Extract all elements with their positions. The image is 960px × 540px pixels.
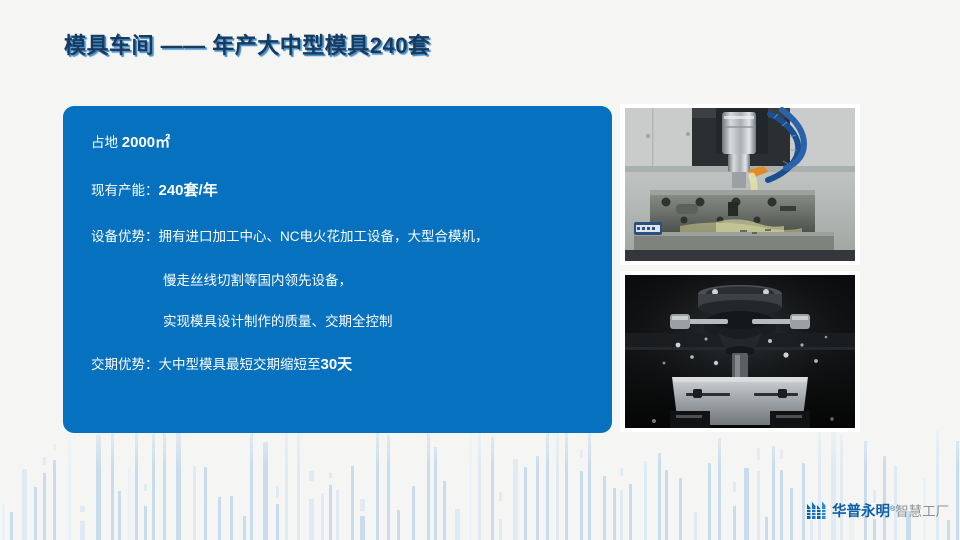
panel-line-equipment-3: 实现模具设计制作的质量、交期全控制 <box>91 313 598 331</box>
background-stripe-segment <box>144 484 147 491</box>
background-stripe <box>144 506 147 540</box>
panel-line-capacity-value: 240套/年 <box>159 182 218 199</box>
background-stripe <box>80 521 85 540</box>
background-stripe-segment <box>43 457 46 465</box>
background-stripe <box>524 467 527 540</box>
background-stripe-segment <box>360 499 365 511</box>
background-stripe <box>152 434 155 540</box>
background-stripe <box>329 485 332 540</box>
background-stripe <box>956 441 959 540</box>
background-stripe <box>360 516 365 540</box>
content-panel: 占地 2000㎡ 现有产能：240套/年 设备优势：拥有进口加工中心、NC电火花… <box>63 106 612 433</box>
panel-line-leadtime: 交期优势：大中型模具最短交期缩短至30天 <box>91 355 598 375</box>
background-stripe <box>620 490 623 540</box>
background-stripe <box>297 432 300 540</box>
background-stripe <box>491 437 494 540</box>
panel-line-area-prefix: 占地 <box>91 135 122 150</box>
background-stripe <box>176 428 181 540</box>
background-stripe <box>665 470 668 540</box>
background-stripe <box>68 425 71 540</box>
background-stripe <box>644 461 647 540</box>
company-logo: 华普永明 ® 智慧工厂 <box>806 498 949 522</box>
panel-line-area: 占地 2000㎡ <box>91 133 598 153</box>
background-stripe <box>263 442 268 540</box>
background-stripe <box>864 441 867 540</box>
background-stripe <box>588 425 591 540</box>
background-stripe <box>629 484 632 540</box>
panel-line-leadtime-value: 30天 <box>321 356 353 373</box>
background-stripe <box>831 426 836 540</box>
panel-line-equipment-1-text: 设备优势：拥有进口加工中心、NC电火花加工设备，大型合模机， <box>91 229 489 244</box>
background-stripe <box>603 476 606 540</box>
background-stripe <box>613 488 616 540</box>
background-stripe <box>434 447 437 540</box>
cnc-machining-center-photo <box>620 104 860 265</box>
background-stripe <box>580 471 583 540</box>
background-stripe <box>118 491 121 540</box>
background-stripe <box>336 490 339 540</box>
background-stripe <box>285 415 288 540</box>
background-stripe <box>499 519 502 540</box>
background-stripe <box>376 421 379 540</box>
panel-line-equipment-3-text: 实现模具设计制作的质量、交期全控制 <box>163 314 393 329</box>
background-stripe <box>43 473 46 540</box>
background-stripe <box>96 435 101 540</box>
background-stripe <box>744 468 749 540</box>
background-stripe <box>218 497 221 540</box>
background-stripe-segment <box>580 450 583 458</box>
background-stripe-segment <box>276 486 279 498</box>
background-stripe-segment <box>499 492 502 501</box>
panel-line-equipment-1: 设备优势：拥有进口加工中心、NC电火花加工设备，大型合模机， <box>91 228 598 246</box>
background-stripe <box>387 435 390 540</box>
panel-line-capacity: 现有产能：240套/年 <box>91 181 598 201</box>
background-stripe <box>679 478 682 540</box>
panel-line-equipment-2-text: 慢走丝线切割等国内领先设备， <box>163 273 352 288</box>
background-stripe <box>128 468 131 540</box>
background-stripe-segment <box>329 473 332 478</box>
background-stripe <box>309 499 314 540</box>
background-stripe-segment <box>309 471 314 481</box>
background-stripe-segment <box>53 444 56 451</box>
background-stripe <box>873 519 876 540</box>
background-stripe <box>733 506 736 540</box>
panel-line-area-unit: ㎡ <box>155 134 170 151</box>
background-stripe <box>427 431 430 540</box>
background-stripe <box>243 516 246 540</box>
background-stripe-segment <box>757 448 760 460</box>
background-stripe <box>53 460 56 540</box>
bar-chart-logo-mark <box>806 501 827 520</box>
background-stripe-segment <box>733 482 736 492</box>
background-stripe <box>802 463 805 540</box>
background-stripe <box>276 504 279 540</box>
background-stripe <box>780 470 783 540</box>
background-stripe <box>536 456 539 540</box>
content-panel-body: 占地 2000㎡ 现有产能：240套/年 设备优势：拥有进口加工中心、NC电火花… <box>91 133 598 374</box>
background-stripe <box>2 504 5 540</box>
background-stripe <box>790 488 793 540</box>
background-stripe <box>250 417 253 540</box>
background-stripe <box>111 418 114 540</box>
cnc-spindle-dark-illustration <box>620 271 860 432</box>
cnc-machining-center-illustration <box>620 104 860 265</box>
panel-line-equipment-2: 慢走丝线切割等国内领先设备， <box>91 272 598 290</box>
background-stripe-segment <box>80 506 85 512</box>
background-stripe <box>204 467 207 540</box>
background-stripe <box>455 509 460 540</box>
background-stripe <box>321 493 324 540</box>
logo-trademark-symbol: ® <box>890 506 895 513</box>
panel-line-leadtime-prefix: 交期优势：大中型模具最短交期缩短至 <box>91 357 321 372</box>
background-stripe <box>694 512 697 540</box>
background-stripe <box>936 431 939 540</box>
background-stripe <box>22 469 27 540</box>
background-stripe <box>718 438 721 540</box>
background-stripe <box>34 487 37 540</box>
background-stripe <box>546 415 549 540</box>
slide-title-container: 模具车间 —— 年产大中型模具240套 <box>64 27 430 61</box>
background-stripe <box>230 496 233 540</box>
background-stripe-segment <box>780 449 783 459</box>
background-stripe <box>478 417 481 540</box>
background-stripe <box>513 459 518 540</box>
background-stripe <box>397 510 400 540</box>
background-stripe <box>10 512 13 540</box>
background-stripe-segment <box>620 468 623 476</box>
background-stripe <box>772 446 775 540</box>
background-stripe <box>412 486 415 540</box>
logo-text-group: 华普永明 ® 智慧工厂 <box>832 500 949 521</box>
slide-title: 模具车间 —— 年产大中型模具240套 <box>64 28 430 60</box>
background-stripe <box>757 471 760 540</box>
background-stripe <box>193 466 196 540</box>
background-stripe <box>163 425 166 540</box>
panel-line-capacity-prefix: 现有产能： <box>91 183 159 198</box>
background-stripe <box>840 434 843 540</box>
cnc-spindle-dark-photo <box>620 271 860 432</box>
background-stripe <box>708 463 711 540</box>
logo-subtitle: 智慧工厂 <box>895 500 949 520</box>
panel-line-area-value: 2000 <box>122 134 155 151</box>
background-stripe <box>765 517 768 540</box>
background-stripe <box>443 481 446 540</box>
slide-canvas: 模具车间 —— 年产大中型模具240套 占地 2000㎡ 现有产能：240套/年… <box>0 0 960 540</box>
background-stripe <box>947 520 950 540</box>
background-stripe <box>810 520 813 540</box>
logo-brand-name: 华普永明 <box>832 500 890 521</box>
background-stripe <box>658 453 661 540</box>
background-stripe <box>351 466 354 540</box>
